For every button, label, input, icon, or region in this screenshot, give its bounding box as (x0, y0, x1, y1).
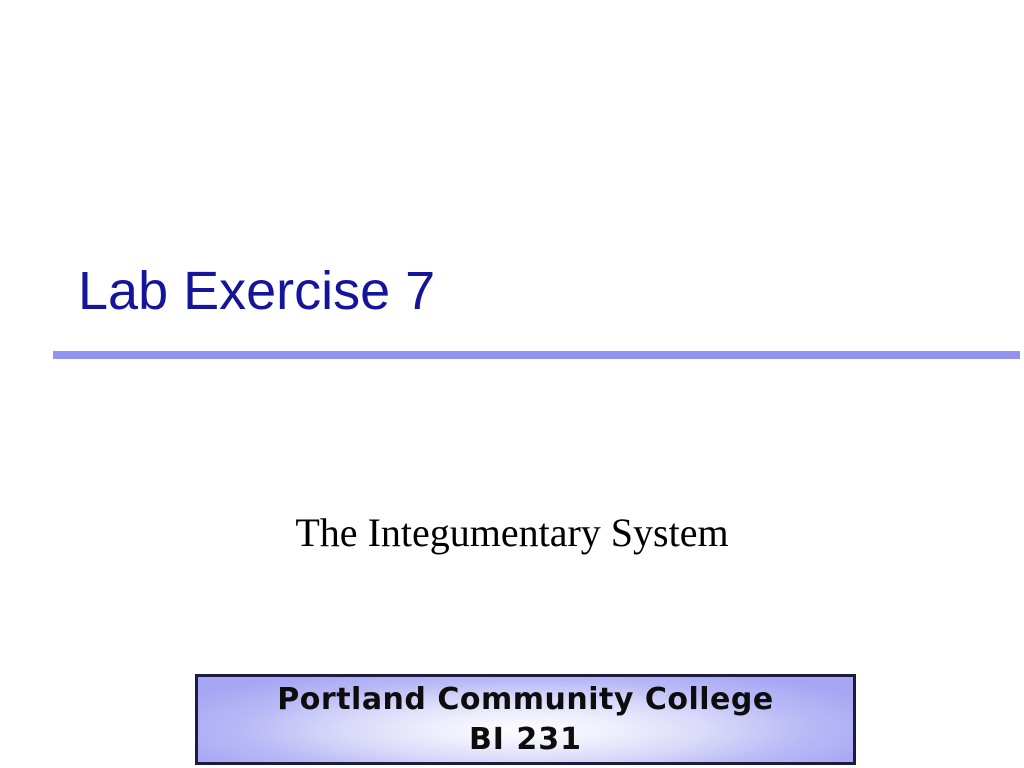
slide-subtitle: The Integumentary System (0, 508, 1024, 558)
page-title: Lab Exercise 7 (78, 262, 435, 320)
title-divider-rule (53, 351, 1020, 359)
credit-box: Portland Community College BI 231 (195, 674, 856, 765)
credit-institution-label: Portland Community College (277, 680, 773, 720)
presentation-slide: Lab Exercise 7 The Integumentary System … (0, 0, 1024, 768)
credit-course-code-label: BI 231 (469, 720, 582, 760)
